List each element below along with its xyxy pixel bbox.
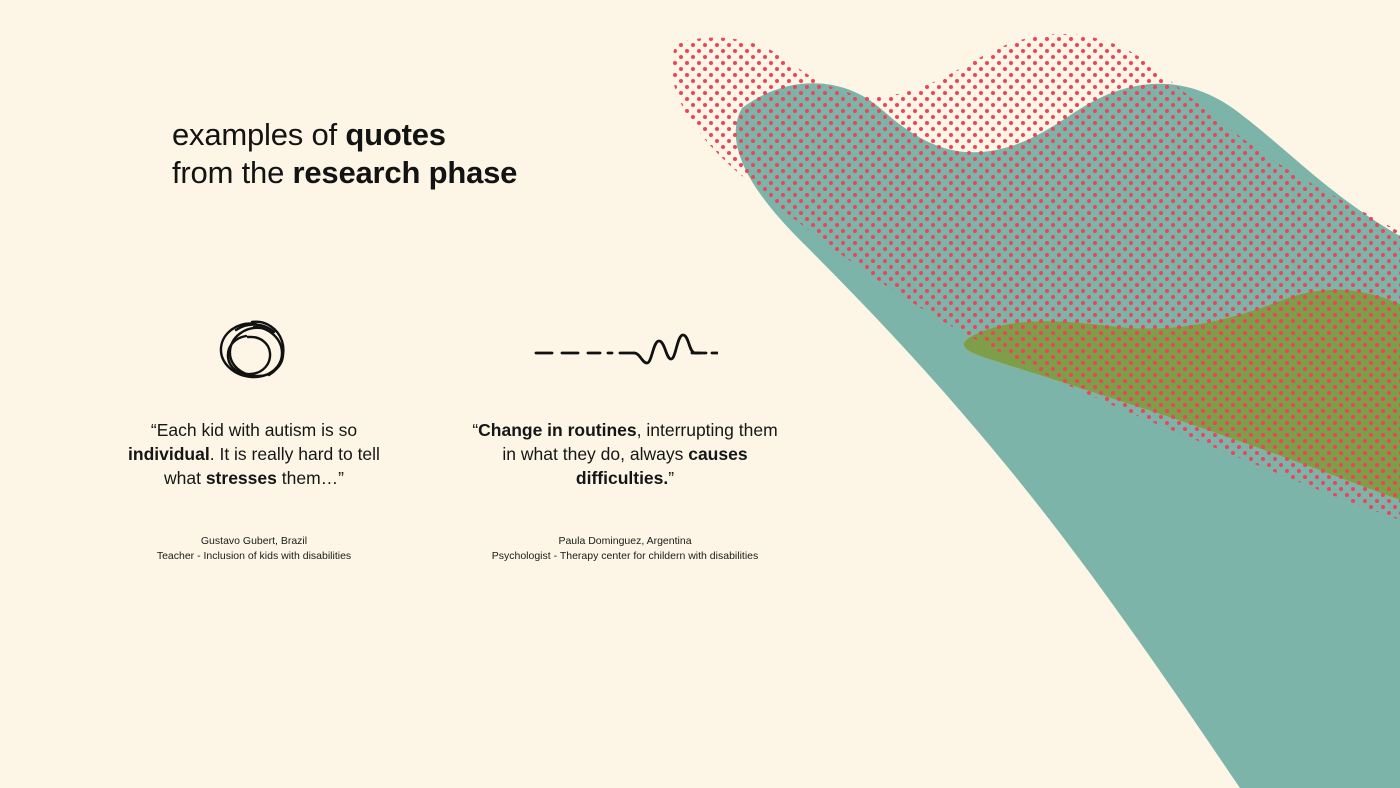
attribution-name: Gustavo Gubert, Brazil (201, 535, 307, 547)
quote-text-1: “Each kid with autism is so individual. … (108, 418, 400, 490)
quote-emphasis: stresses (206, 468, 277, 488)
quote-emphasis: individual (128, 444, 210, 464)
waveform-pulse-icon (468, 312, 782, 390)
quote-card-2: “Change in routines, interrupting them i… (468, 312, 782, 563)
quote-text-2: “Change in routines, interrupting them i… (468, 418, 782, 490)
slide-canvas: examples of quotes from the research pha… (0, 0, 1400, 788)
quote-emphasis: Change in routines (478, 420, 636, 440)
quote-plain: them… (277, 468, 338, 488)
attribution-role: Teacher - Inclusion of kids with disabil… (108, 549, 400, 564)
attribution-role: Psychologist - Therapy center for childe… (468, 549, 782, 564)
quote-attribution-1: Gustavo Gubert, Brazil Teacher - Inclusi… (108, 534, 400, 563)
attribution-name: Paula Dominguez, Argentina (558, 535, 691, 547)
title-line-1-plain: examples of (172, 117, 345, 152)
title-line-2-bold: research phase (293, 155, 518, 190)
page-title: examples of quotes from the research pha… (172, 116, 517, 192)
title-line-2-plain: from the (172, 155, 293, 190)
quote-attribution-2: Paula Dominguez, Argentina Psychologist … (468, 534, 782, 563)
title-line-1-bold: quotes (345, 117, 445, 152)
quote-plain: Each kid with autism is so (157, 420, 357, 440)
scribble-loops-icon (108, 312, 400, 390)
quote-card-1: “Each kid with autism is so individual. … (108, 312, 400, 563)
